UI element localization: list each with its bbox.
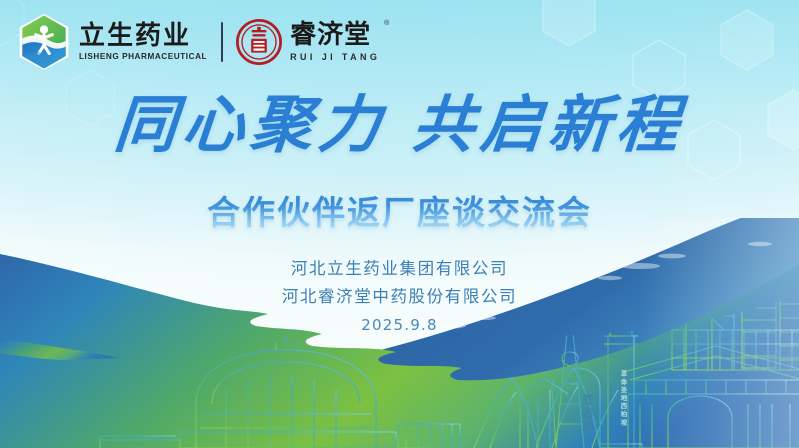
brand-divider bbox=[221, 22, 223, 62]
lisheng-wordmark: 立生药业 LISHENG PHARMACEUTICAL bbox=[79, 23, 207, 61]
organizer-line-2: 河北睿济堂中药股份有限公司 bbox=[0, 283, 799, 311]
hexagon-badge-icon bbox=[18, 14, 70, 70]
registered-mark-icon: ® bbox=[384, 20, 389, 27]
ruijitang-wordmark: 睿济堂 RUI JI TANG ® bbox=[290, 22, 380, 61]
organizer-list: 河北立生药业集团有限公司 河北睿济堂中药股份有限公司 bbox=[0, 255, 799, 310]
page-subtitle: 合作伙伴返厂座谈交流会 bbox=[0, 186, 799, 234]
ruijitang-name-cn: 睿济堂 bbox=[290, 22, 380, 49]
event-date: 2025.9.8 bbox=[0, 316, 799, 334]
landmark-label-cangyan: 苍岩山 bbox=[579, 394, 595, 433]
page-title: 同心聚力共启新程 bbox=[0, 92, 799, 159]
brand-header: 立生药业 LISHENG PHARMACEUTICAL 睿济堂 RUI JI T… bbox=[18, 14, 380, 70]
headline-phrase-2: 共启新程 bbox=[409, 88, 687, 161]
ruijitang-name-en: RUI JI TANG bbox=[290, 52, 380, 62]
landmark-label-monument: 革命圣地西柏坡 bbox=[618, 370, 628, 427]
poster-canvas: 立生药业 LISHENG PHARMACEUTICAL 睿济堂 RUI JI T… bbox=[0, 0, 799, 448]
organizer-line-1: 河北立生药业集团有限公司 bbox=[0, 255, 799, 283]
lisheng-name-en: LISHENG PHARMACEUTICAL bbox=[79, 52, 207, 61]
round-seal-icon bbox=[236, 19, 282, 65]
headline-phrase-1: 同心聚力 bbox=[111, 88, 389, 161]
lisheng-name-cn: 立生药业 bbox=[79, 23, 207, 50]
